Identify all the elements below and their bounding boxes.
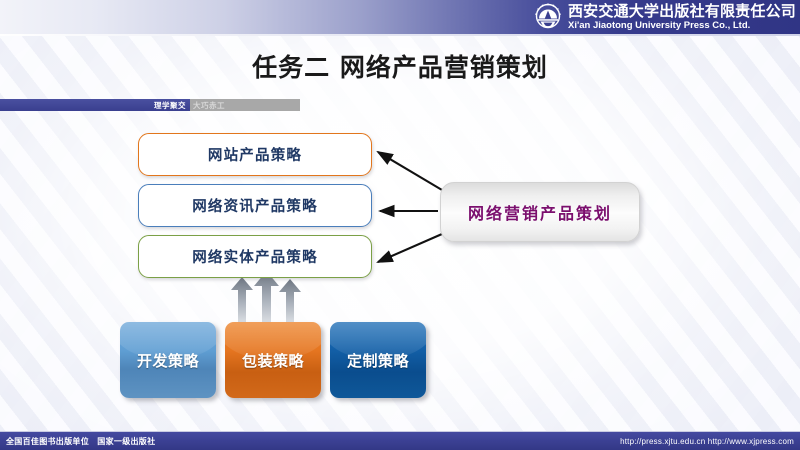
strategy-box-physical-label: 网络实体产品策略 bbox=[192, 246, 318, 267]
tactic-box-customization[interactable]: 定制策略 bbox=[330, 322, 426, 398]
slide-canvas: 西安交通大学出版社有限责任公司 Xi'an Jiaotong Universit… bbox=[0, 0, 800, 450]
strategy-box-information[interactable]: 网络资讯产品策略 bbox=[138, 184, 372, 227]
arrow-up-icon bbox=[254, 271, 279, 322]
hub-box-label: 网络营销产品策划 bbox=[468, 200, 612, 224]
tactic-box-customization-label: 定制策略 bbox=[347, 350, 409, 371]
tactic-box-packaging-label: 包装策略 bbox=[242, 350, 304, 371]
arrow-up-icon bbox=[231, 277, 253, 322]
arrow-left-icon bbox=[378, 152, 442, 190]
strategy-box-website[interactable]: 网站产品策略 bbox=[138, 133, 372, 176]
arrow-left-icon bbox=[378, 234, 442, 262]
footer-urls[interactable]: http://press.xjtu.edu.cn http://www.xjpr… bbox=[620, 437, 794, 446]
arrow-up-icon bbox=[279, 279, 301, 322]
strategy-box-physical[interactable]: 网络实体产品策略 bbox=[138, 235, 372, 278]
tactic-box-development-label: 开发策略 bbox=[137, 350, 199, 371]
hub-box-marketing-planning[interactable]: 网络营销产品策划 bbox=[440, 182, 640, 242]
footer-credentials: 全国百佳图书出版单位 国家一级出版社 bbox=[6, 436, 155, 447]
strategy-box-information-label: 网络资讯产品策略 bbox=[192, 195, 318, 216]
tactic-box-development[interactable]: 开发策略 bbox=[120, 322, 216, 398]
strategy-box-website-label: 网站产品策略 bbox=[208, 144, 302, 165]
tactic-box-packaging[interactable]: 包装策略 bbox=[225, 322, 321, 398]
footer-bar: 全国百佳图书出版单位 国家一级出版社 http://press.xjtu.edu… bbox=[0, 432, 800, 450]
